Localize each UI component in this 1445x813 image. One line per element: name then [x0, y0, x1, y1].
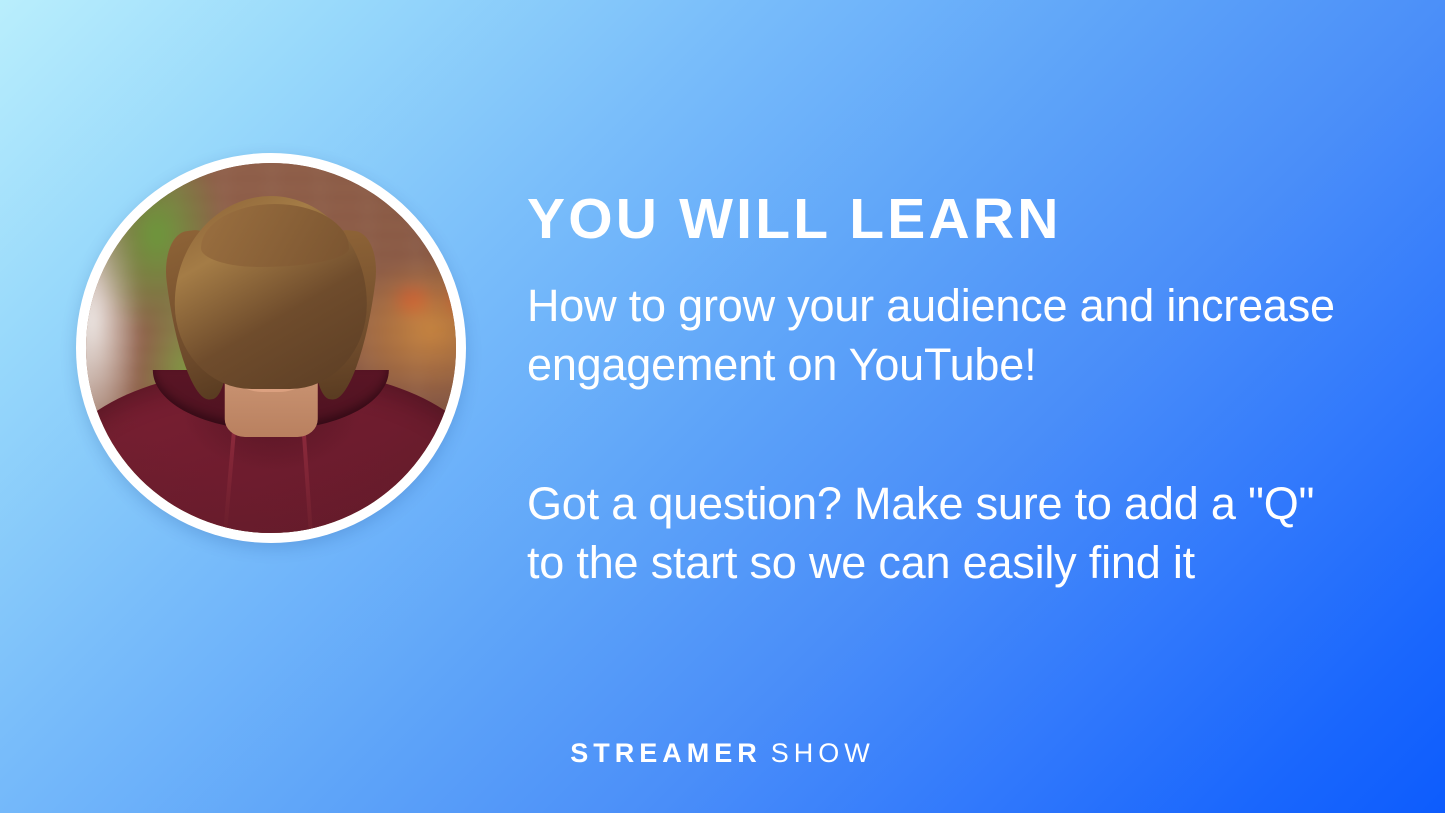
brand-name-primary: STREAMER [570, 738, 762, 768]
avatar-photo [86, 163, 456, 533]
page-title: You Will Learn [527, 190, 1387, 250]
photo-vignette [86, 163, 456, 533]
avatar [76, 153, 466, 543]
brand-name-secondary: SHOW [771, 738, 875, 768]
content-column: You Will Learn How to grow your audience… [527, 190, 1387, 592]
learn-description: How to grow your audience and increase e… [527, 276, 1357, 394]
question-instructions: Got a question? Make sure to add a "Q" t… [527, 474, 1357, 592]
slide-canvas: You Will Learn How to grow your audience… [0, 0, 1445, 813]
footer-branding: STREAMERSHOW [0, 738, 1445, 769]
